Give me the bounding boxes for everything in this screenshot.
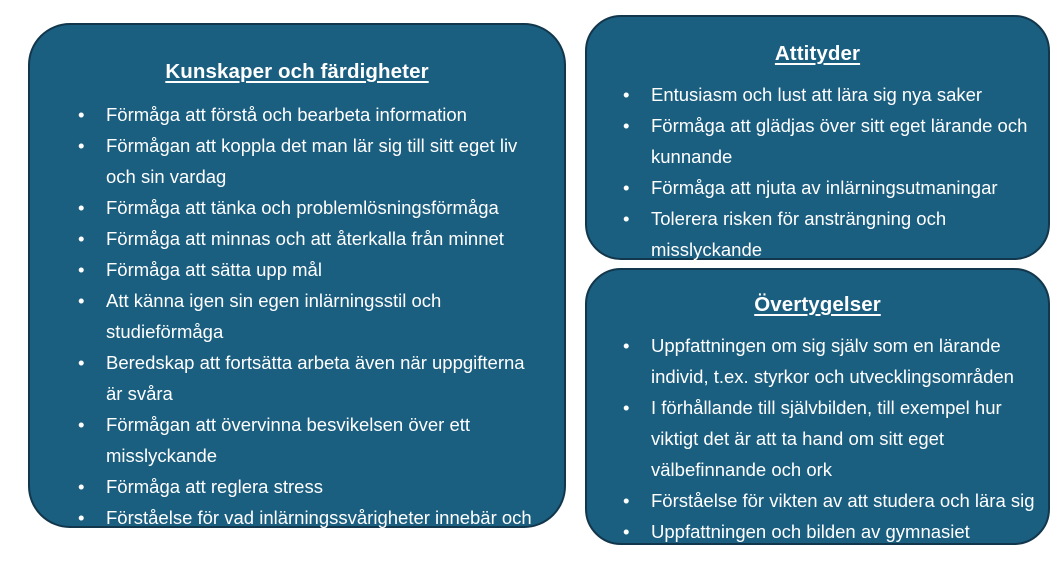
bullet-icon: •: [78, 502, 97, 533]
list-item-text: Förmågan att koppla det man lär sig till…: [106, 135, 517, 187]
list-item: • Förmåga att njuta av inlärningsutmanin…: [603, 172, 1034, 203]
bullet-icon: •: [623, 516, 642, 547]
list-item: • Förmåga att glädjas över sitt eget lär…: [603, 110, 1034, 172]
panel-title-text: Attityder: [775, 42, 860, 65]
bullet-list-attityder: • Entusiasm och lust att lära sig nya sa…: [603, 79, 1034, 265]
panel-attityder: Attityder • Entusiasm och lust att lära …: [585, 15, 1050, 260]
panel-title-text: Kunskaper och färdigheter: [165, 60, 428, 83]
list-item: • Förmåga att minnas och att återkalla f…: [54, 223, 546, 254]
list-item-text: Tolerera risken för ansträngning och mis…: [651, 208, 946, 260]
list-item: • Uppfattningen och bilden av gymnasiet: [603, 516, 1038, 547]
panel-title-overtygelser: Övertygelser: [587, 292, 1048, 318]
list-item: • Att känna igen sin egen inlärningsstil…: [54, 285, 546, 347]
list-item-text: I förhållande till självbilden, till exe…: [651, 397, 1002, 480]
bullet-list-overtygelser: • Uppfattningen om sig själv som en lära…: [603, 330, 1038, 547]
panel-kunskaper-och-fardigheter: Kunskaper och färdigheter • Förmåga att …: [28, 23, 566, 528]
bullet-icon: •: [78, 471, 97, 502]
list-item-text: Förmåga att sätta upp mål: [106, 259, 322, 280]
list-item-text: Entusiasm och lust att lära sig nya sake…: [651, 84, 982, 105]
bullet-icon: •: [623, 485, 642, 516]
bullet-icon: •: [78, 347, 97, 378]
list-item-text: Förmåga att minnas och att återkalla frå…: [106, 228, 504, 249]
bullet-icon: •: [78, 223, 97, 254]
list-item-text: Förmåga att glädjas över sitt eget läran…: [651, 115, 1027, 167]
list-item: • Förståelse för vikten av att studera o…: [603, 485, 1038, 516]
bullet-icon: •: [78, 99, 97, 130]
list-item-text: Beredskap att fortsätta arbeta även när …: [106, 352, 525, 404]
bullet-icon: •: [623, 392, 642, 423]
panel-title-attityder: Attityder: [587, 41, 1048, 67]
list-item: • Beredskap att fortsätta arbeta även nä…: [54, 347, 546, 409]
bullet-icon: •: [78, 409, 97, 440]
bullet-icon: •: [623, 203, 642, 234]
bullet-list-kunskaper-och-fardigheter: • Förmåga att förstå och bearbeta inform…: [54, 99, 546, 564]
list-item-text: Förmågan att övervinna besvikelsen över …: [106, 414, 470, 466]
bullet-icon: •: [623, 172, 642, 203]
list-item-text: Förståelse för vikten av att studera och…: [651, 490, 1035, 511]
bullet-icon: •: [78, 254, 97, 285]
list-item-text: Förmåga att njuta av inlärningsutmaninga…: [651, 177, 998, 198]
panel-overtygelser: Övertygelser • Uppfattningen om sig själ…: [585, 268, 1050, 545]
bullet-icon: •: [623, 110, 642, 141]
bullet-icon: •: [78, 285, 97, 316]
list-item: • Förmågan att koppla det man lär sig ti…: [54, 130, 546, 192]
list-item-text: Uppfattningen och bilden av gymnasiet: [651, 521, 970, 542]
bullet-icon: •: [623, 79, 642, 110]
list-item: • Förmåga att förstå och bearbeta inform…: [54, 99, 546, 130]
list-item-text: Förmåga att reglera stress: [106, 476, 323, 497]
bullet-icon: •: [623, 330, 642, 361]
bullet-icon: •: [78, 130, 97, 161]
list-item: • Förmåga att tänka och problemlösningsf…: [54, 192, 546, 223]
bullet-icon: •: [78, 192, 97, 223]
list-item-text: Förmåga att förstå och bearbeta informat…: [106, 104, 467, 125]
panel-title-kunskaper-och-fardigheter: Kunskaper och färdigheter: [30, 59, 564, 85]
panel-title-text: Övertygelser: [754, 293, 881, 316]
list-item-text: Uppfattningen om sig själv som en lärand…: [651, 335, 1014, 387]
list-item: • Förmågan att övervinna besvikelsen öve…: [54, 409, 546, 471]
list-item: • Uppfattningen om sig själv som en lära…: [603, 330, 1038, 392]
list-item-text: Förmåga att tänka och problemlösningsför…: [106, 197, 499, 218]
list-item-text: Förståelse för vad inlärningssvårigheter…: [106, 507, 532, 559]
list-item: • Förmåga att reglera stress: [54, 471, 546, 502]
list-item: • I förhållande till självbilden, till e…: [603, 392, 1038, 485]
list-item-text: Att känna igen sin egen inlärningsstil o…: [106, 290, 441, 342]
list-item: • Tolerera risken för ansträngning och m…: [603, 203, 1034, 265]
list-item: • Entusiasm och lust att lära sig nya sa…: [603, 79, 1034, 110]
list-item: • Förmåga att sätta upp mål: [54, 254, 546, 285]
list-item: • Förståelse för vad inlärningssvårighet…: [54, 502, 546, 564]
